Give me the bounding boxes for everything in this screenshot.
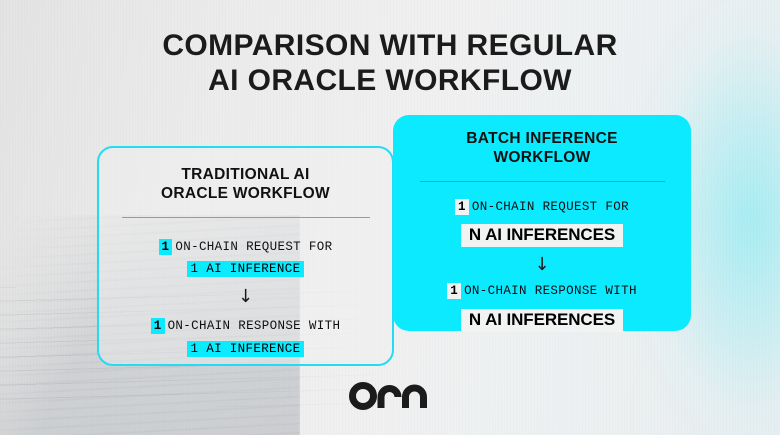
page-title: COMPARISON WITH REGULAR AI ORACLE WORKFL… (0, 28, 780, 98)
card-batch-heading: BATCH INFERENCE WORKFLOW (393, 130, 691, 168)
card-batch-heading-line-1: BATCH INFERENCE (393, 130, 691, 149)
batch-step-request-emphasis: N AI INFERENCES (461, 224, 623, 247)
traditional-step-response-text: ON-CHAIN RESPONSE WITH (168, 319, 341, 333)
batch-step-response-text: ON-CHAIN RESPONSE WITH (464, 284, 637, 298)
card-traditional-heading: TRADITIONAL AI ORACLE WORKFLOW (99, 166, 392, 204)
batch-step-request-text: ON-CHAIN REQUEST FOR (472, 200, 629, 214)
down-arrow-icon: ↓ (238, 286, 253, 307)
traditional-step-request-text: ON-CHAIN REQUEST FOR (175, 240, 332, 254)
traditional-step-response-emphasis-row: 1 AI INFERENCE (99, 339, 392, 357)
traditional-step-request-emphasis-row: 1 AI INFERENCE (99, 259, 392, 277)
traditional-step-response: 1ON-CHAIN RESPONSE WITH 1 AI INFERENCE (99, 317, 392, 356)
batch-step-request: 1ON-CHAIN REQUEST FOR N AI INFERENCES (393, 198, 691, 247)
card-traditional-divider (122, 217, 370, 218)
card-traditional-heading-line-1: TRADITIONAL AI (99, 166, 392, 185)
batch-flow-arrow: ↓ (393, 256, 691, 274)
page-title-line-1: COMPARISON WITH REGULAR (0, 28, 780, 63)
card-batch-workflow: BATCH INFERENCE WORKFLOW 1ON-CHAIN REQUE… (393, 115, 691, 331)
card-batch-steps: 1ON-CHAIN REQUEST FOR N AI INFERENCES ↓ … (393, 198, 691, 332)
batch-step-response-line: 1ON-CHAIN RESPONSE WITH (393, 282, 691, 301)
brand-logo-ora (0, 380, 780, 410)
page-title-line-2: AI ORACLE WORKFLOW (0, 63, 780, 98)
traditional-step-response-emphasis: 1 AI INFERENCE (187, 341, 305, 357)
batch-step-response-number: 1 (447, 283, 461, 299)
traditional-step-request-line: 1ON-CHAIN REQUEST FOR (99, 238, 392, 257)
batch-step-request-line: 1ON-CHAIN REQUEST FOR (393, 198, 691, 217)
batch-step-request-number: 1 (455, 199, 469, 215)
batch-step-request-emphasis-row: N AI INFERENCES (393, 219, 691, 247)
batch-step-response-emphasis: N AI INFERENCES (461, 309, 623, 332)
card-traditional-heading-line-2: ORACLE WORKFLOW (99, 185, 392, 204)
traditional-step-request: 1ON-CHAIN REQUEST FOR 1 AI INFERENCE (99, 238, 392, 277)
traditional-flow-arrow: ↓ (99, 288, 392, 306)
traditional-step-response-number: 1 (151, 318, 165, 334)
batch-step-response: 1ON-CHAIN RESPONSE WITH N AI INFERENCES (393, 282, 691, 331)
batch-step-response-emphasis-row: N AI INFERENCES (393, 304, 691, 332)
ora-logomark-icon (348, 380, 432, 410)
traditional-step-request-number: 1 (159, 239, 173, 255)
traditional-step-response-line: 1ON-CHAIN RESPONSE WITH (99, 317, 392, 336)
card-traditional-workflow: TRADITIONAL AI ORACLE WORKFLOW 1ON-CHAIN… (97, 146, 394, 366)
card-traditional-steps: 1ON-CHAIN REQUEST FOR 1 AI INFERENCE ↓ 1… (99, 238, 392, 357)
card-batch-divider (420, 181, 665, 182)
card-batch-heading-line-2: WORKFLOW (393, 149, 691, 168)
down-arrow-icon: ↓ (534, 254, 549, 275)
traditional-step-request-emphasis: 1 AI INFERENCE (187, 261, 305, 277)
